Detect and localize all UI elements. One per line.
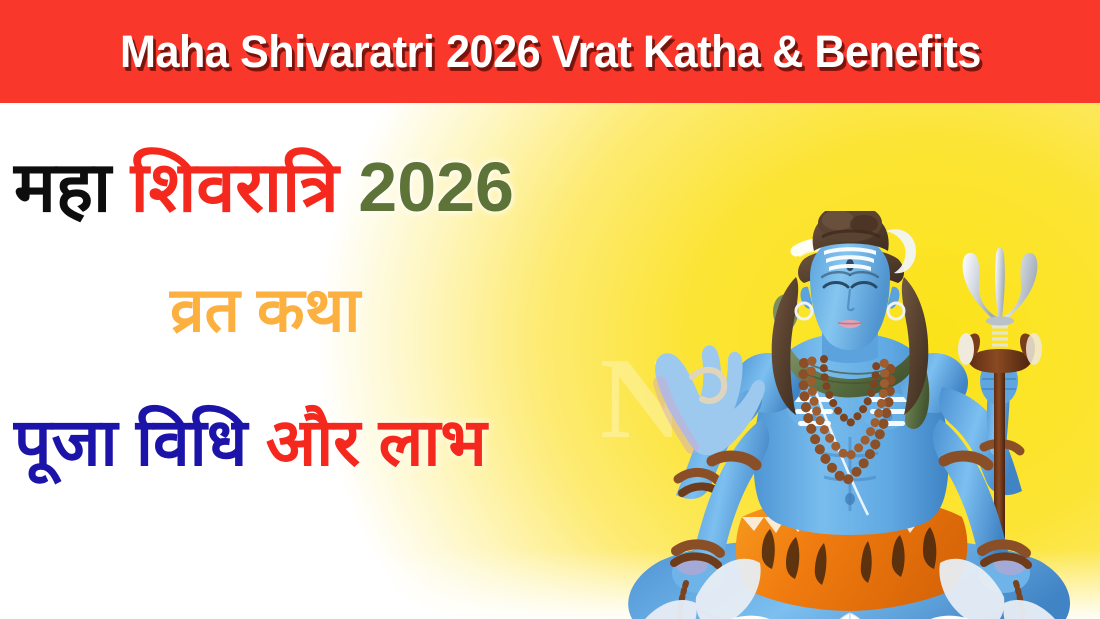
headline-line-2: व्रत कथा — [170, 278, 360, 343]
header-title: Maha Shivaratri 2026 Vrat Katha & Benefi… — [108, 26, 992, 78]
shiva-illustration — [600, 211, 1100, 619]
headline-maha: महा — [14, 148, 111, 226]
headline-vrat-katha: व्रत कथा — [170, 276, 360, 345]
headline-year: 2026 — [358, 148, 514, 226]
headline-line-1: महा शिवरात्रि 2026 — [14, 151, 514, 225]
headline-aur-labh: और लाभ — [266, 405, 487, 479]
tripundra-forehead — [824, 247, 876, 271]
headline-puja-vidhi: पूजा विधि — [14, 405, 247, 479]
header-banner: Maha Shivaratri 2026 Vrat Katha & Benefi… — [0, 0, 1100, 103]
headline-line-3: पूजा विधि और लाभ — [14, 408, 487, 477]
shivaratri-banner: Maha Shivaratri 2026 Vrat Katha & Benefi… — [0, 0, 1100, 619]
headline-shivaratri: शिवरात्रि — [131, 148, 339, 226]
